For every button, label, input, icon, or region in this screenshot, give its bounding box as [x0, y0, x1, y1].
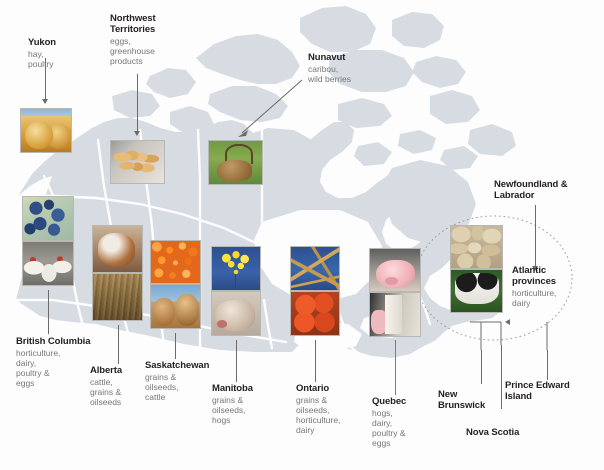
- region-title-quebec: Quebec: [372, 397, 406, 408]
- callout-new-brunswick: New Brunswick: [438, 390, 485, 411]
- photo-alberta-cattle: [92, 225, 143, 273]
- region-products-atlantic-provinces: horticulture, dairy: [512, 288, 556, 308]
- region-title-newfoundland-labrador: Newfoundland & Labrador: [494, 180, 568, 201]
- region-title-new-brunswick: New Brunswick: [438, 390, 485, 411]
- photo-quebec-hogs: [369, 248, 421, 292]
- region-title-atlantic-provinces: Atlantic provinces: [512, 266, 556, 287]
- new-brunswick-leader-line: [481, 350, 482, 384]
- region-products-manitoba: grains & oilseeds, hogs: [212, 395, 253, 425]
- newfoundland-leader-line: [535, 205, 536, 267]
- nwt-arrowhead: [134, 131, 140, 136]
- region-products-yukon: hay, poultry: [28, 49, 56, 69]
- quebec-leader-line: [395, 340, 396, 395]
- callout-alberta: Alberta cattle, grains & oilseeds: [90, 366, 122, 407]
- callout-prince-edward-island: Prince Edward Island: [505, 381, 570, 402]
- photo-manitoba-canola: [211, 246, 261, 291]
- callout-yukon: Yukon hay, poultry: [28, 38, 56, 69]
- alberta-leader-line: [118, 325, 119, 364]
- region-title-ontario: Ontario: [296, 384, 340, 395]
- region-title-nova-scotia: Nova Scotia: [466, 428, 519, 439]
- nova-scotia-leader-line: [501, 345, 502, 409]
- callout-ontario: Ontario grains & oilseeds, horticulture,…: [296, 384, 340, 435]
- region-title-northwest-territories: Northwest Territories: [110, 14, 156, 35]
- photo-saskatchewan-cattle: [150, 284, 201, 329]
- photo-quebec-dairy: [369, 292, 421, 337]
- region-products-british-columbia: horticulture, dairy, poultry & eggs: [16, 348, 90, 388]
- manitoba-leader-line: [236, 340, 237, 382]
- nwt-leader-line: [137, 74, 138, 132]
- region-products-quebec: hogs, dairy, poultry & eggs: [372, 408, 406, 448]
- photo-bc-blueberries: [22, 196, 74, 241]
- callout-nunavut: Nunavut caribou, wild berries: [308, 53, 351, 84]
- photo-atlantic-dairy: [450, 269, 503, 313]
- region-title-nunavut: Nunavut: [308, 53, 351, 64]
- callout-british-columbia: British Columbia horticulture, dairy, po…: [16, 337, 90, 388]
- region-title-manitoba: Manitoba: [212, 384, 253, 395]
- photo-nwt-eggs: [110, 140, 165, 184]
- region-title-yukon: Yukon: [28, 38, 56, 49]
- photo-alberta-grain: [92, 273, 143, 321]
- pei-leader-line: [547, 350, 548, 380]
- photo-bc-poultry: [22, 241, 74, 286]
- region-title-prince-edward-island: Prince Edward Island: [505, 381, 570, 402]
- region-products-northwest-territories: eggs, greenhouse products: [110, 36, 156, 66]
- saskatchewan-leader-line: [175, 333, 176, 359]
- region-title-saskatchewan: Saskatchewan: [145, 361, 209, 372]
- bc-leader-line: [48, 290, 49, 334]
- callout-quebec: Quebec hogs, dairy, poultry & eggs: [372, 397, 406, 448]
- photo-atlantic-potatoes: [450, 225, 503, 269]
- ontario-leader-line: [315, 340, 316, 382]
- photo-yukon-hay: [20, 108, 72, 153]
- callout-northwest-territories: Northwest Territories eggs, greenhouse p…: [110, 14, 156, 66]
- region-products-alberta: cattle, grains & oilseeds: [90, 377, 122, 407]
- callout-manitoba: Manitoba grains & oilseeds, hogs: [212, 384, 253, 425]
- atlantic-leader-lines: [470, 322, 547, 350]
- canada-agriculture-map: Yukon hay, poultry Northwest Territories…: [0, 0, 604, 470]
- region-products-nunavut: caribou, wild berries: [308, 64, 351, 84]
- region-title-alberta: Alberta: [90, 366, 122, 377]
- callout-atlantic-provinces: Atlantic provinces horticulture, dairy: [512, 266, 556, 308]
- callout-saskatchewan: Saskatchewan grains & oilseeds, cattle: [145, 361, 209, 402]
- photo-saskatchewan-lentils: [150, 240, 201, 284]
- callout-newfoundland-labrador: Newfoundland & Labrador: [494, 180, 568, 201]
- photo-nunavut-caribou: [208, 140, 263, 185]
- photo-ontario-tomatoes: [290, 291, 340, 336]
- callout-nova-scotia: Nova Scotia: [466, 428, 519, 439]
- photo-manitoba-hogs: [211, 291, 261, 336]
- region-products-ontario: grains & oilseeds, horticulture, dairy: [296, 395, 340, 435]
- region-title-british-columbia: British Columbia: [16, 337, 90, 348]
- photo-ontario-soybeans: [290, 246, 340, 291]
- region-products-saskatchewan: grains & oilseeds, cattle: [145, 372, 209, 402]
- yukon-arrowhead: [42, 99, 48, 104]
- atlantic-arrowhead: [505, 319, 510, 325]
